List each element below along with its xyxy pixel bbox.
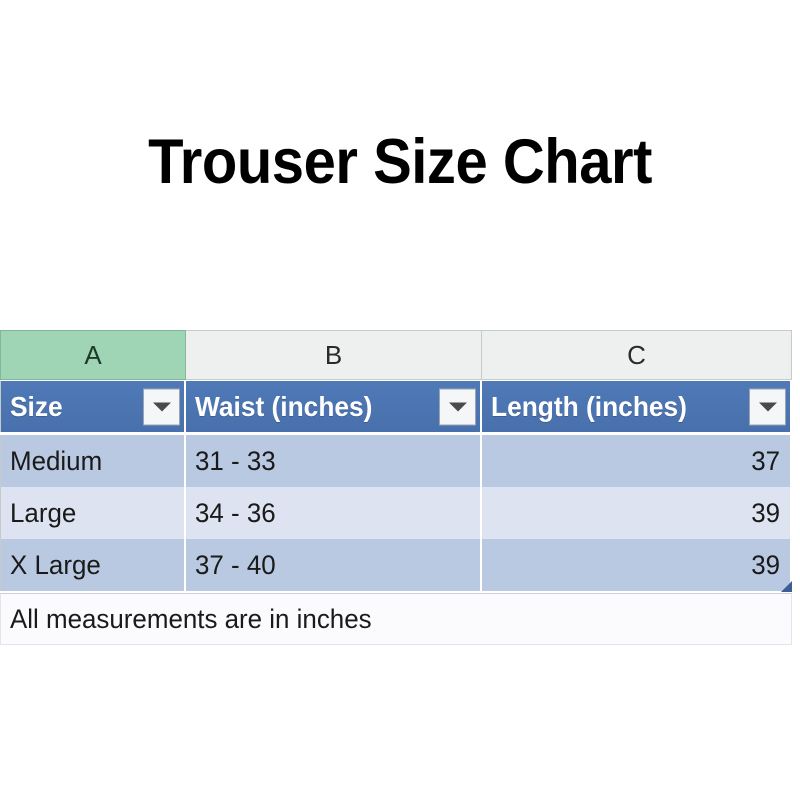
cell-size[interactable]: Medium xyxy=(0,435,186,487)
table-footer-row: All measurements are in inches xyxy=(0,593,792,645)
cell-length[interactable]: 37 xyxy=(482,435,792,487)
filter-dropdown-icon-size[interactable] xyxy=(143,388,180,425)
column-header-b[interactable]: B xyxy=(186,330,482,380)
filter-dropdown-icon-waist[interactable] xyxy=(439,388,476,425)
page-root: Trouser Size Chart A B C Size Waist (inc… xyxy=(0,0,800,800)
cell-size[interactable]: Large xyxy=(0,487,186,539)
table-header-size[interactable]: Size xyxy=(0,381,186,432)
cell-size-text: Large xyxy=(10,498,76,529)
table-header-size-label: Size xyxy=(10,391,63,423)
table-header-waist-label: Waist (inches) xyxy=(195,391,372,423)
cell-length[interactable]: 39 xyxy=(482,539,792,591)
cell-waist-text: 37 - 40 xyxy=(195,550,276,581)
cell-waist[interactable]: 37 - 40 xyxy=(186,539,482,591)
cell-size-text: X Large xyxy=(10,550,101,581)
chevron-down-icon xyxy=(153,402,171,411)
table-header-row: Size Waist (inches) Length (inches) xyxy=(0,381,792,432)
table-header-waist[interactable]: Waist (inches) xyxy=(186,381,482,432)
chevron-down-icon xyxy=(759,402,777,411)
table-row[interactable]: Medium 31 - 33 37 xyxy=(0,435,792,487)
cell-size[interactable]: X Large xyxy=(0,539,186,591)
footer-note[interactable]: All measurements are in inches xyxy=(0,593,792,645)
cell-length-text: 37 xyxy=(751,446,780,477)
cell-waist-text: 31 - 33 xyxy=(195,446,276,477)
table-header-length[interactable]: Length (inches) xyxy=(482,381,792,432)
cell-waist-text: 34 - 36 xyxy=(195,498,276,529)
table-row[interactable]: X Large 37 - 40 39 xyxy=(0,539,792,591)
filter-dropdown-icon-length[interactable] xyxy=(749,388,786,425)
cell-length[interactable]: 39 xyxy=(482,487,792,539)
column-header-c[interactable]: C xyxy=(482,330,792,380)
cell-size-text: Medium xyxy=(10,446,102,477)
cell-length-text: 39 xyxy=(751,498,780,529)
cell-length-text: 39 xyxy=(751,550,780,581)
footer-note-text: All measurements are in inches xyxy=(10,604,372,635)
column-header-a[interactable]: A xyxy=(0,330,186,380)
chevron-down-icon xyxy=(449,402,467,411)
column-letter-header-row: A B C xyxy=(0,330,792,380)
spreadsheet-table: A B C Size Waist (inches) Length (inches… xyxy=(0,330,792,645)
cell-waist[interactable]: 34 - 36 xyxy=(186,487,482,539)
table-header-length-label: Length (inches) xyxy=(491,391,687,423)
page-title: Trouser Size Chart xyxy=(32,122,768,202)
table-row[interactable]: Large 34 - 36 39 xyxy=(0,487,792,539)
cell-waist[interactable]: 31 - 33 xyxy=(186,435,482,487)
